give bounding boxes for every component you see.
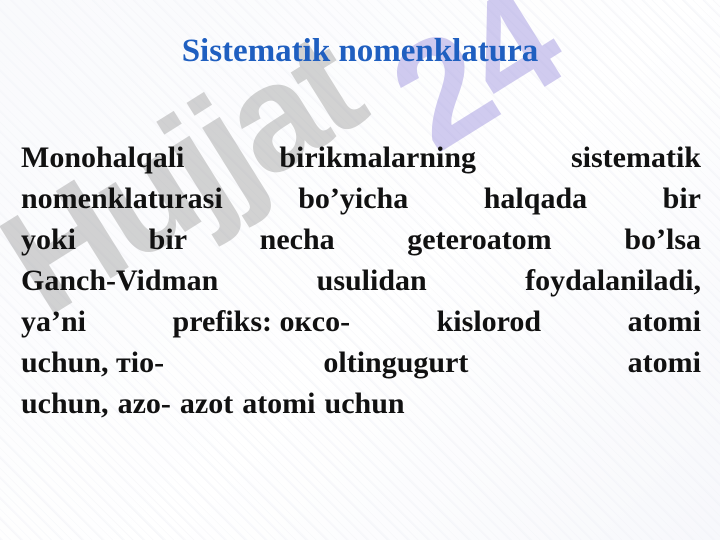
body-word: Monohalqali bbox=[21, 137, 184, 178]
body-word: ya’ni bbox=[21, 301, 86, 342]
body-word: geteroatom bbox=[407, 219, 551, 260]
body-word: azot bbox=[180, 383, 233, 424]
body-word: Ganch-Vidman bbox=[21, 260, 218, 301]
body-word: bo’yicha bbox=[298, 178, 408, 219]
body-text-line: uchun,azo-azotatomiuchun bbox=[21, 383, 701, 424]
body-word: oltingugurt bbox=[323, 342, 468, 383]
body-word: bir bbox=[663, 178, 701, 219]
body-word: usulidan bbox=[317, 260, 427, 301]
body-word: nomenklaturasi bbox=[21, 178, 223, 219]
body-word: halqada bbox=[484, 178, 587, 219]
body-word: sistematik bbox=[571, 137, 701, 178]
body-word: birikmalarning bbox=[279, 137, 476, 178]
body-word: necha bbox=[260, 219, 335, 260]
body-text-line: nomenklaturasibo’yichahalqadabir bbox=[21, 178, 701, 219]
body-word: atomi bbox=[628, 342, 701, 383]
page-title: Sistematik nomenklatura bbox=[0, 31, 720, 71]
body-word: atomi bbox=[242, 383, 315, 424]
body-word: foydalaniladi, bbox=[525, 260, 701, 301]
body-word: uchun bbox=[325, 383, 405, 424]
body-word: bir bbox=[149, 219, 187, 260]
slide-content: Sistematik nomenklatura Monohalqalibirik… bbox=[0, 0, 720, 540]
body-text-block: Monohalqalibirikmalarningsistematiknomen… bbox=[21, 137, 701, 424]
body-word: azo- bbox=[118, 383, 171, 424]
body-word: yoki bbox=[21, 219, 76, 260]
body-word: atomi bbox=[628, 301, 701, 342]
body-word: kislorod bbox=[437, 301, 542, 342]
body-word: uchun, тio- bbox=[21, 342, 164, 383]
body-word: bo’lsa bbox=[624, 219, 701, 260]
body-text-line: Monohalqalibirikmalarningsistematik bbox=[21, 137, 701, 178]
body-word: uchun, bbox=[21, 383, 109, 424]
body-text-line: Ganch-Vidmanusulidanfoydalaniladi, bbox=[21, 260, 701, 301]
body-text-line: uchun, тio-oltingugurtatomi bbox=[21, 342, 701, 383]
presentation-slide: Hujjat 24 Sistematik nomenklatura Monoha… bbox=[0, 0, 720, 540]
body-text-line: yokibirnechageteroatombo’lsa bbox=[21, 219, 701, 260]
body-word: prefiks: окco- bbox=[173, 301, 351, 342]
body-text-line: ya’niprefiks: окco-kislorodatomi bbox=[21, 301, 701, 342]
